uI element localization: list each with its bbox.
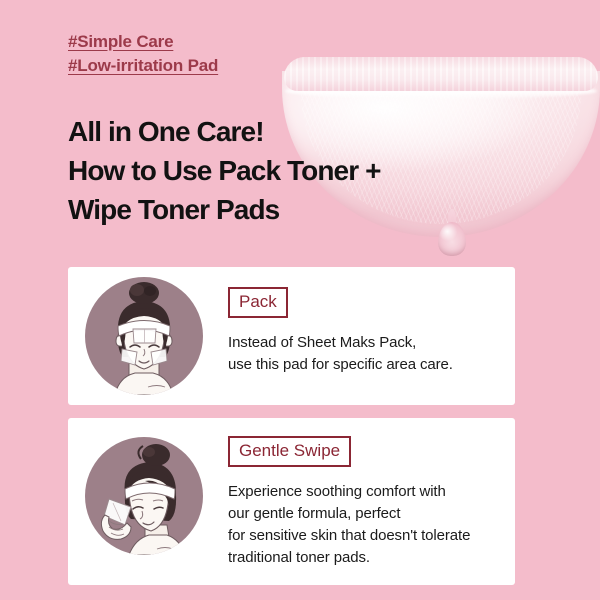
body-line-2: use this pad for specific area care. xyxy=(228,354,515,376)
pad-seam xyxy=(285,83,597,99)
hashtag-group: #Simple Care #Low-irritation Pad xyxy=(68,30,218,78)
headline-line-2: How to Use Pack Toner + xyxy=(68,151,381,190)
droplet-bulb xyxy=(438,222,466,256)
body-line-4: traditional toner pads. xyxy=(228,547,515,569)
promo-poster: #Simple Care #Low-irritation Pad All in … xyxy=(0,0,600,600)
body-text-pack: Instead of Sheet Maks Pack, use this pad… xyxy=(228,332,515,376)
body-line-2: our gentle formula, perfect xyxy=(228,503,515,525)
chip-gentle-swipe: Gentle Swipe xyxy=(228,436,351,467)
body-line-1: Experience soothing comfort with xyxy=(228,481,515,503)
pad-rolled-edge xyxy=(284,57,598,91)
hashtag-low-irritation-pad[interactable]: #Low-irritation Pad xyxy=(68,54,218,78)
card-text-gentle-swipe: Gentle Swipe Experience soothing comfort… xyxy=(203,418,515,569)
chip-pack: Pack xyxy=(228,287,288,318)
body-text-gentle-swipe: Experience soothing comfort with our gen… xyxy=(228,481,515,569)
headline-line-1: All in One Care! xyxy=(68,112,381,151)
body-line-1: Instead of Sheet Maks Pack, xyxy=(228,332,515,354)
headline-line-3: Wipe Toner Pads xyxy=(68,190,381,229)
step-card-pack: Pack Instead of Sheet Maks Pack, use thi… xyxy=(68,267,515,405)
toner-droplet-icon xyxy=(435,209,469,257)
droplet-neck xyxy=(448,209,456,229)
illustration-woman-with-pads-on-face xyxy=(85,277,203,395)
illustration-woman-wiping-cheek xyxy=(85,437,203,555)
step-card-gentle-swipe: Gentle Swipe Experience soothing comfort… xyxy=(68,418,515,585)
hashtag-simple-care[interactable]: #Simple Care xyxy=(68,30,218,54)
body-line-3: for sensitive skin that doesn't tolerate xyxy=(228,525,515,547)
page-title: All in One Care! How to Use Pack Toner +… xyxy=(68,112,381,229)
card-text-pack: Pack Instead of Sheet Maks Pack, use thi… xyxy=(203,267,515,376)
